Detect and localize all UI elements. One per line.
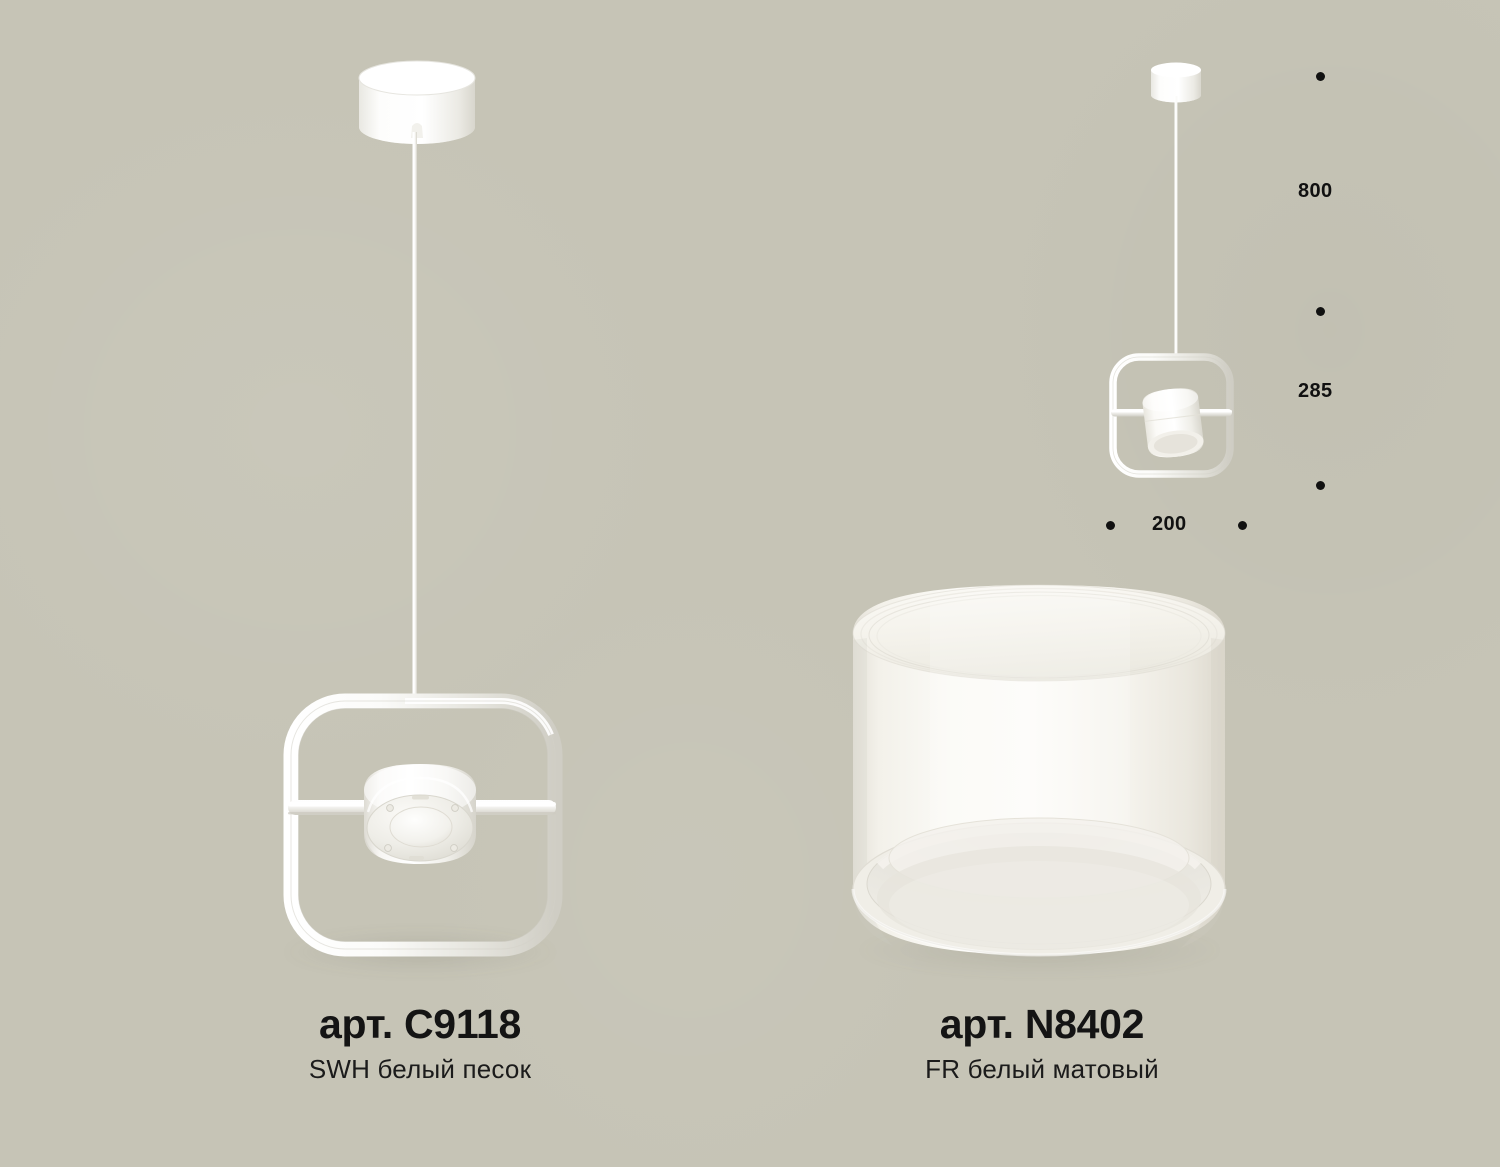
dimension-200-label: 200 xyxy=(1152,513,1187,536)
article-code-left: арт. C9118 xyxy=(236,1003,604,1046)
article-finish-left: SWH белый песок xyxy=(236,1053,604,1086)
dim-dot-left-200 xyxy=(1106,521,1115,530)
product-right-n8402 xyxy=(850,585,1230,976)
dim-dot-mid xyxy=(1316,307,1325,316)
product-label-right: арт. N8402 FR белый матовый xyxy=(842,1003,1242,1086)
dimension-285-label: 285 xyxy=(1298,380,1333,403)
ceiling-canopy-left xyxy=(359,61,475,144)
shade-preview-n8402 xyxy=(1141,386,1205,460)
spotlight-head-left xyxy=(364,764,476,864)
dimension-800-label: 800 xyxy=(1298,180,1333,203)
suspension-cord-preview xyxy=(1175,96,1178,359)
product-label-left: арт. C9118 SWH белый песок xyxy=(236,1003,604,1086)
article-code-right: арт. N8402 xyxy=(842,1003,1242,1046)
product-left-c9118 xyxy=(280,61,560,974)
assembly-preview-right xyxy=(1111,63,1232,475)
suspension-cord-left xyxy=(413,132,418,707)
dim-dot-top xyxy=(1316,72,1325,81)
product-spec-canvas: 800 285 200 арт. C9118 SWH белый песок а… xyxy=(0,0,1500,1167)
dim-dot-bottom xyxy=(1316,481,1325,490)
product-illustration-layer xyxy=(0,0,1500,1167)
article-finish-right: FR белый матовый xyxy=(842,1053,1242,1086)
dim-dot-right-200 xyxy=(1238,521,1247,530)
